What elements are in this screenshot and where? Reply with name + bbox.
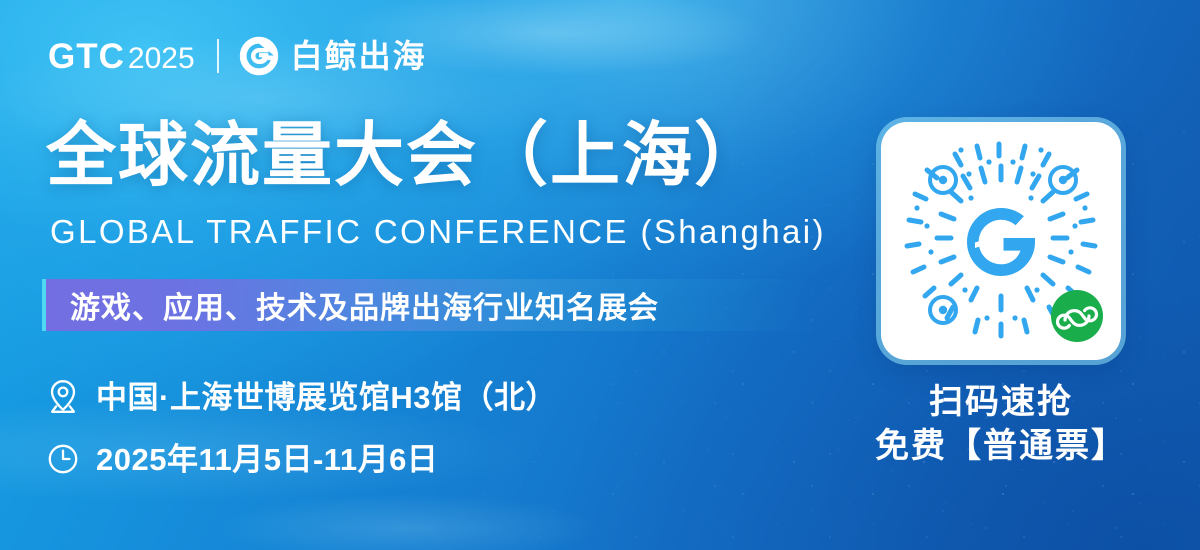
page-title-en: GLOBAL TRAFFIC CONFERENCE (Shanghai)	[50, 215, 826, 248]
promo-banner: GTC 2025 白鲸出海 全球流量大会（上海） GLOBAL TRAFFIC …	[0, 0, 1200, 550]
gtc-logo-main: GTC	[48, 39, 125, 74]
qr-cta-line-2: 免费【普通票】	[840, 424, 1162, 468]
page-title-cn: 全球流量大会（上海）	[46, 116, 766, 194]
whale-g-circle-icon	[239, 36, 279, 76]
wechat-miniprogram-qr-code[interactable]	[881, 122, 1121, 360]
date-text: 2025年11月5日-11月6日	[96, 444, 438, 475]
qr-call-to-action: 扫码速抢 免费【普通票】	[840, 380, 1162, 468]
location-pin-icon	[46, 378, 80, 416]
logo-divider	[217, 39, 219, 73]
tagline-banner: 游戏、应用、技术及品牌出海行业知名展会	[42, 279, 818, 331]
qr-position-ring	[930, 167, 956, 193]
header-logo-row: GTC 2025 白鲸出海	[48, 33, 427, 79]
clock-icon	[46, 440, 80, 478]
wechat-miniprogram-badge-icon	[1051, 290, 1103, 342]
qr-code-card[interactable]	[881, 122, 1121, 360]
qr-center-logo	[967, 208, 1035, 276]
qr-cta-line-1: 扫码速抢	[840, 380, 1162, 424]
brand-lockup: 白鲸出海	[239, 36, 427, 76]
venue-row: 中国·上海世博展览馆H3馆（北）	[46, 378, 557, 416]
gtc-logo-year: 2025	[128, 44, 195, 74]
date-row: 2025年11月5日-11月6日	[46, 440, 438, 478]
gtc-event-logo: GTC 2025	[48, 39, 195, 74]
tagline-text: 游戏、应用、技术及品牌出海行业知名展会	[70, 279, 659, 331]
tagline-accent-bar	[42, 279, 46, 331]
brand-name: 白鲸出海	[291, 40, 427, 72]
venue-text: 中国·上海世博展览馆H3馆（北）	[96, 382, 557, 413]
